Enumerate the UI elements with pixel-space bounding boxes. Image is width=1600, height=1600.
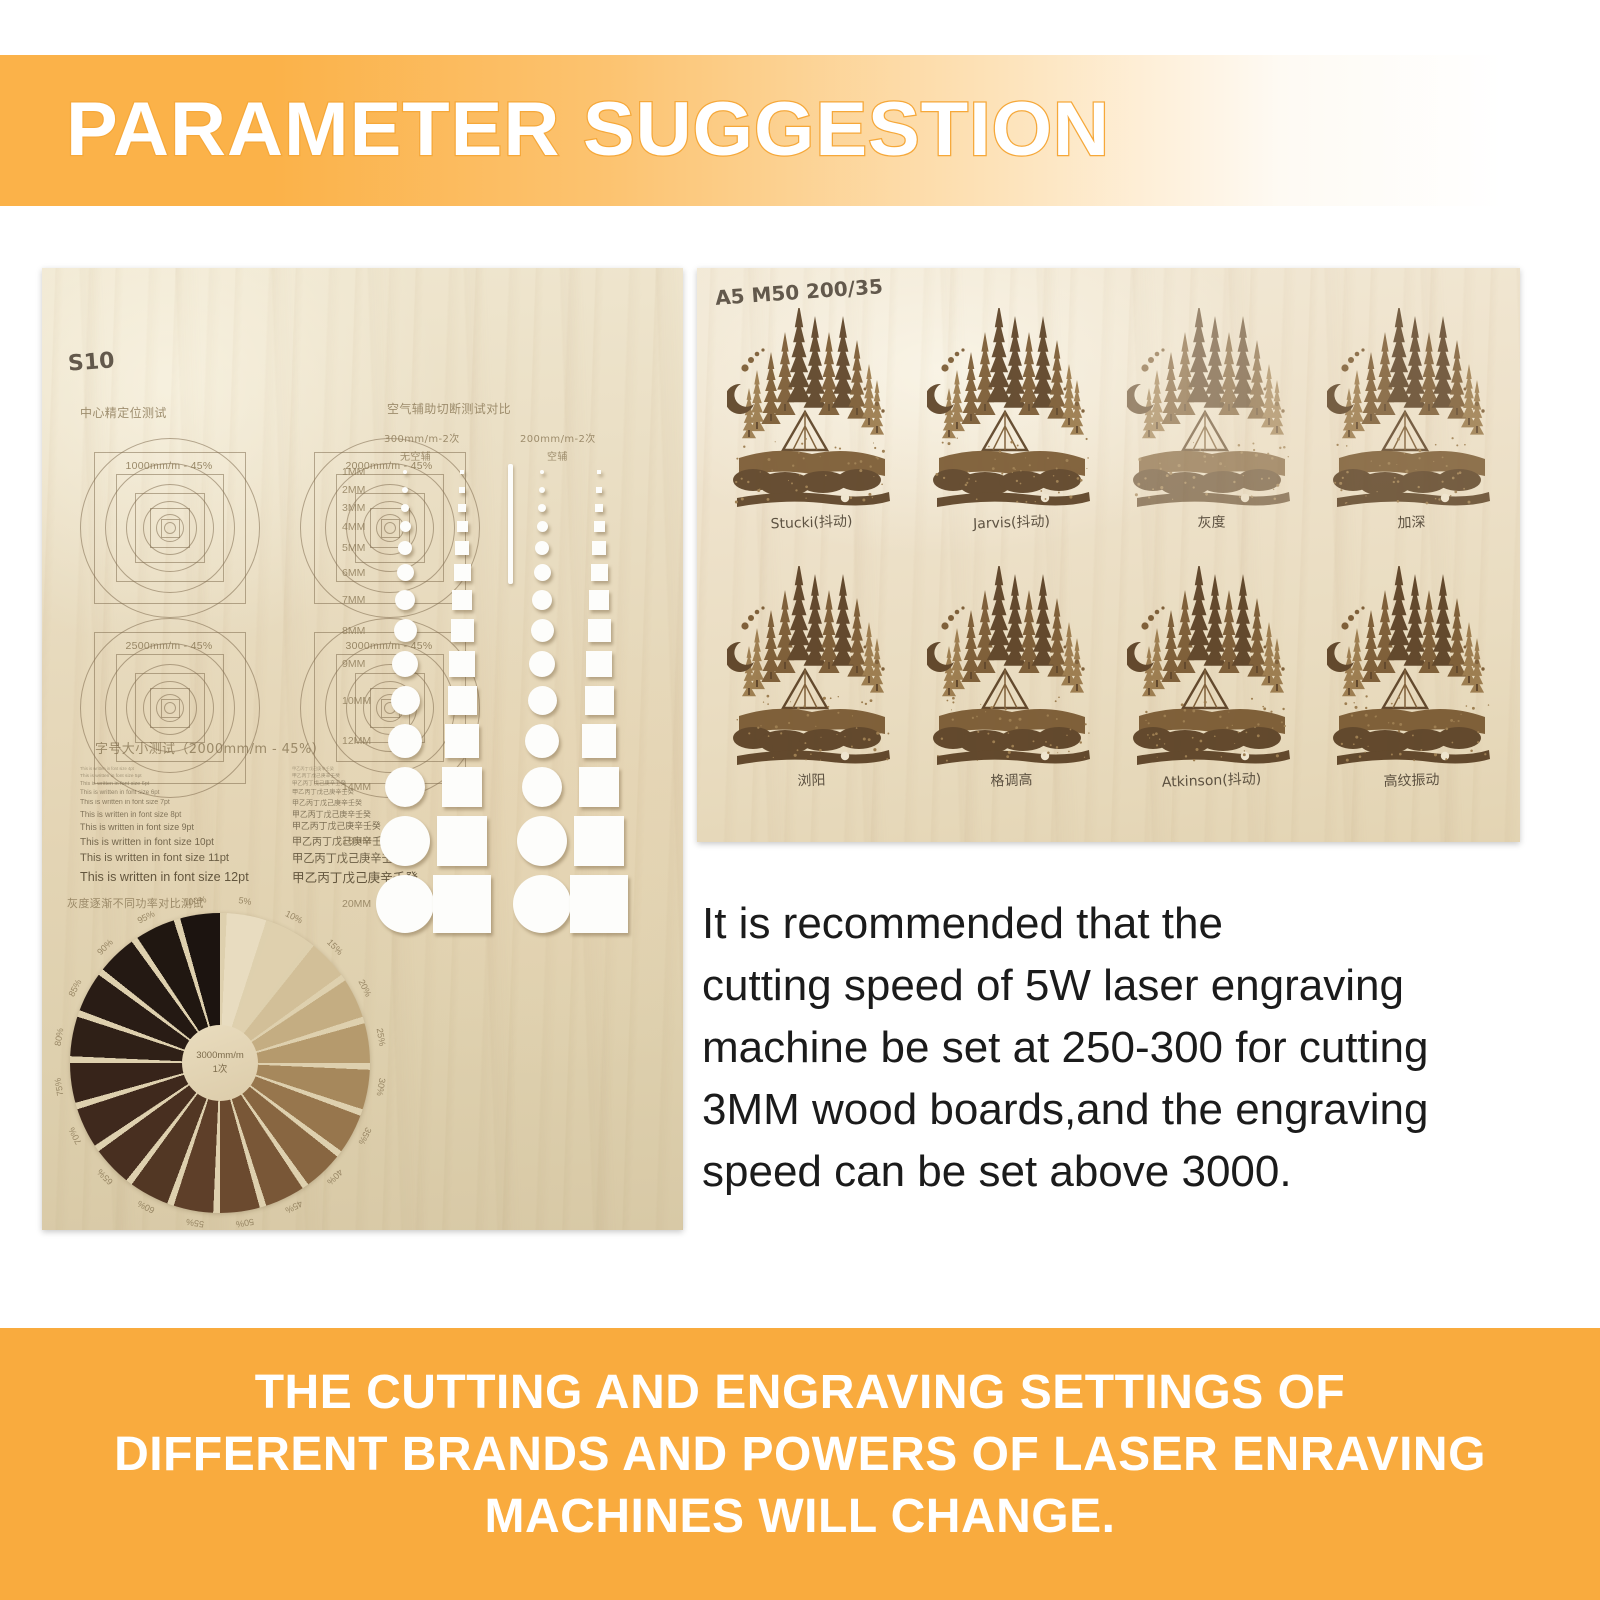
tent-detail: [1193, 412, 1217, 450]
engrave-speckle: [966, 482, 968, 484]
decorative-dot: [1064, 646, 1067, 649]
engrave-speckle: [805, 498, 806, 499]
font-size-sample-en: This is written in font size 8pt: [80, 809, 249, 821]
engrave-speckle: [1160, 468, 1162, 470]
engrave-speckle: [1006, 755, 1009, 758]
test-board-left: S10 中心精定位测试 空气辅助切断测试对比 字号大小测试（2000mm/m -…: [42, 268, 683, 1230]
pine-tree: [1404, 316, 1427, 408]
tree-trunk: [1028, 662, 1030, 669]
engrave-speckle: [1365, 695, 1367, 697]
engrave-speckle: [737, 719, 738, 720]
engrave-speckle: [797, 749, 799, 751]
tree-trunk: [956, 422, 958, 429]
tree-trunk: [1370, 672, 1372, 679]
engrave-speckle: [803, 705, 805, 707]
engrave-speckle: [886, 758, 888, 760]
engrave-speckle: [1152, 488, 1154, 490]
engrave-speckle: [1246, 732, 1248, 734]
pine-tree: [1004, 574, 1027, 666]
decorative-dot: [761, 348, 764, 351]
paragraph-line: speed can be set above 3000.: [702, 1141, 1532, 1203]
engrave-speckle: [1261, 478, 1263, 480]
engrave-speckle: [1069, 495, 1072, 498]
engrave-speckle: [872, 497, 873, 498]
engrave-speckle: [1029, 464, 1031, 466]
engrave-speckle: [1453, 721, 1454, 722]
cut-size-label: 8MM: [342, 625, 365, 637]
cut-divider-strip: [508, 464, 513, 584]
cut-out-square: [586, 651, 612, 677]
engrave-speckle: [1279, 447, 1281, 449]
tree-trunk: [1468, 676, 1470, 683]
engrave-speckle: [799, 474, 801, 476]
decorative-dot: [864, 646, 867, 649]
fallen-log: [937, 492, 1090, 507]
decorative-dot: [1450, 397, 1455, 402]
test-circle: [384, 522, 396, 534]
cut-out-square: [437, 816, 487, 866]
engrave-speckle: [952, 701, 954, 703]
paragraph-line: 3MM wood boards,and the engraving: [702, 1079, 1532, 1141]
foliage-clump: [1037, 727, 1081, 749]
foliage-clump: [1437, 727, 1481, 749]
engrave-speckle: [994, 459, 995, 460]
engrave-speckle: [1360, 738, 1361, 739]
decorative-dot: [741, 364, 748, 371]
engrave-speckle: [1045, 741, 1047, 743]
engraved-artwork: [1327, 308, 1497, 508]
log-knot: [1241, 752, 1249, 760]
tree-trunk: [1442, 396, 1444, 403]
engrave-speckle: [1086, 438, 1088, 440]
decorative-dot: [1355, 610, 1360, 615]
engraved-artwork: [927, 566, 1097, 766]
tree-trunk: [1356, 680, 1358, 687]
tree-trunk: [970, 672, 972, 679]
engrave-speckle: [1274, 498, 1277, 501]
engrave-speckle: [1488, 704, 1489, 705]
test-circle: [164, 702, 176, 714]
decorative-dot: [1057, 650, 1061, 654]
cut-out-square: [454, 564, 471, 581]
engrave-speckle: [1346, 502, 1347, 503]
engrave-speckle: [1375, 716, 1377, 718]
engrave-speckle: [838, 696, 839, 697]
engrave-speckle: [1056, 718, 1058, 720]
engrave-speckle: [836, 734, 837, 735]
cut-out-square: [579, 767, 619, 807]
tree-trunk: [1348, 430, 1350, 437]
engrave-speckle: [1404, 453, 1405, 454]
cut-out-square: [582, 724, 616, 758]
engrave-speckle: [988, 446, 990, 448]
engrave-speckle: [1457, 472, 1459, 474]
engrave-speckle: [1056, 480, 1059, 483]
circle-test-caption: 2000mm/m - 45%: [300, 460, 478, 472]
engrave-speckle: [741, 497, 744, 500]
pine-tree: [1374, 590, 1395, 673]
decorative-dot: [1250, 655, 1255, 660]
cut-out-square: [591, 564, 608, 581]
engrave-speckle: [1047, 457, 1049, 459]
engrave-speckle: [980, 704, 981, 705]
engrave-speckle: [1418, 486, 1420, 488]
tree-trunk: [784, 662, 786, 669]
engrave-speckle: [948, 442, 951, 445]
engrave-speckle: [873, 442, 874, 443]
engrave-speckle: [1438, 498, 1440, 500]
cut-out-circle: [385, 767, 425, 807]
decorative-dot: [1450, 655, 1455, 660]
engrave-speckle: [1148, 496, 1150, 498]
test-circle: [164, 522, 176, 534]
decorative-dot: [941, 622, 948, 629]
tree-trunk: [1214, 396, 1216, 403]
font-size-column-en: This is written in font size 4ptThis is …: [80, 766, 249, 887]
cut-out-circle: [392, 651, 418, 677]
tree-trunk: [1476, 684, 1478, 691]
cut-out-circle: [525, 724, 559, 758]
engrave-speckle: [1200, 740, 1203, 743]
tree-trunk: [1056, 666, 1058, 673]
tree-trunk: [1370, 414, 1372, 421]
engrave-speckle: [805, 485, 808, 488]
engrave-speckle: [968, 478, 970, 480]
cut-out-square: [448, 686, 477, 715]
pine-tree: [1374, 332, 1395, 415]
engrave-speckle: [1053, 475, 1055, 477]
engrave-speckle: [1185, 755, 1187, 757]
engrave-speckle: [965, 484, 968, 487]
engrave-speckle: [805, 759, 806, 760]
tent-detail: [793, 670, 817, 708]
decorative-dot: [857, 650, 861, 654]
pine-tree: [1204, 574, 1227, 666]
engrave-speckle: [760, 725, 761, 726]
engrave-speckle: [1204, 701, 1207, 704]
engrave-speckle: [759, 489, 760, 490]
engraving-sample: 高纹振动: [1315, 566, 1508, 806]
engrave-speckle: [1193, 486, 1195, 488]
engrave-speckle: [767, 498, 770, 501]
engraving-sample-caption: Stucki(抖动): [715, 509, 909, 536]
engrave-speckle: [1050, 744, 1052, 746]
engrave-speckle: [1014, 469, 1016, 471]
engrave-speckle: [1005, 708, 1007, 710]
tree-trunk: [1228, 662, 1230, 669]
decorative-dot: [1281, 667, 1284, 670]
engrave-speckle: [1238, 444, 1241, 447]
cut-out-square: [458, 504, 466, 512]
engrave-speckle: [735, 500, 738, 503]
engrave-speckle: [1346, 471, 1349, 474]
engraving-sample-caption: 浏阳: [715, 767, 909, 794]
engrave-speckle: [881, 484, 883, 486]
engrave-speckle: [1252, 497, 1253, 498]
engrave-speckle: [1420, 749, 1422, 751]
font-size-sample-en: This is written in font size 11pt: [80, 850, 249, 867]
tree-trunk: [798, 648, 800, 655]
tree-trunk: [1056, 408, 1058, 415]
engrave-speckle: [1336, 444, 1338, 446]
engrave-speckle: [1184, 482, 1186, 484]
engrave-speckle: [1224, 466, 1225, 467]
engrave-speckle: [1183, 720, 1185, 722]
cut-size-label: 5MM: [342, 542, 365, 554]
engrave-speckle: [747, 481, 749, 483]
cut-compare-column-header: 200mm/m-2次: [520, 430, 596, 445]
circle-test-caption: 1000mm/m - 45%: [80, 460, 258, 472]
engrave-speckle: [1396, 464, 1397, 465]
engrave-speckle: [1442, 457, 1444, 459]
pine-tree: [1404, 574, 1427, 666]
tree-trunk: [876, 684, 878, 691]
engrave-speckle: [819, 749, 822, 752]
engrave-speckle: [1377, 491, 1378, 492]
decorative-dot: [1275, 402, 1279, 406]
tree-trunk: [1242, 396, 1244, 403]
cut-out-circle: [403, 470, 407, 474]
decorative-dot: [1348, 357, 1354, 363]
tree-trunk: [1414, 654, 1416, 661]
cut-out-square: [459, 487, 465, 493]
engrave-speckle: [790, 701, 791, 702]
cut-size-label: 14MM: [342, 781, 371, 793]
engrave-speckle: [854, 462, 856, 464]
engrave-speckle: [1351, 714, 1353, 716]
foliage-clump: [1237, 727, 1281, 749]
engrave-speckle: [1184, 709, 1187, 712]
engrave-speckle: [775, 441, 776, 442]
engrave-speckle: [1157, 757, 1158, 758]
fallen-log: [737, 492, 890, 507]
engrave-speckle: [1418, 449, 1421, 452]
fallen-log: [937, 750, 1090, 765]
cut-out-square: [449, 651, 475, 677]
log-knot: [1041, 494, 1049, 502]
footer-notice: THE CUTTING AND ENGRAVING SETTINGS OFDIF…: [0, 1362, 1600, 1548]
cut-size-label: 7MM: [342, 594, 365, 606]
tent-detail: [993, 670, 1017, 708]
decorative-dot: [1341, 364, 1348, 371]
tree-trunk: [1276, 426, 1278, 433]
log-knot: [1441, 494, 1449, 502]
engrave-speckle: [1145, 720, 1146, 721]
tree-trunk: [1170, 414, 1172, 421]
engraving-sample-caption: 高纹振动: [1315, 767, 1509, 794]
engrave-speckle: [1010, 441, 1013, 444]
engrave-speckle: [1166, 474, 1169, 477]
tree-trunk: [1014, 654, 1016, 661]
engrave-speckle: [1458, 720, 1460, 722]
tree-trunk: [1184, 662, 1186, 669]
decorative-dot: [1281, 409, 1284, 412]
engrave-speckle: [1399, 753, 1402, 756]
engrave-speckle: [1047, 714, 1049, 716]
engrave-speckle: [1172, 499, 1173, 500]
engrave-speckle: [1196, 748, 1199, 751]
engrave-speckle: [985, 711, 986, 712]
engrave-speckle: [1355, 736, 1358, 739]
pine-tree: [1204, 316, 1227, 408]
cut-out-square: [433, 875, 491, 933]
engrave-speckle: [946, 760, 948, 762]
log-knot: [1241, 494, 1249, 502]
engrave-speckle: [1057, 752, 1058, 753]
engrave-speckle: [1392, 722, 1395, 725]
engrave-speckle: [823, 697, 826, 700]
engrave-speckle: [957, 437, 958, 438]
engrave-speckle: [1178, 464, 1181, 467]
engrave-speckle: [972, 717, 974, 719]
engrave-speckle: [810, 753, 812, 755]
engrave-speckle: [1459, 471, 1462, 474]
cut-out-square: [457, 521, 468, 532]
engrave-speckle: [1393, 481, 1395, 483]
engrave-speckle: [1253, 449, 1255, 451]
footer-line: MACHINES WILL CHANGE.: [0, 1486, 1600, 1548]
decorative-dot: [1148, 615, 1154, 621]
engrave-speckle: [1199, 449, 1201, 451]
engrave-speckle: [768, 735, 770, 737]
engrave-speckle: [1426, 502, 1429, 505]
cut-out-circle: [522, 767, 562, 807]
engrave-speckle: [1470, 750, 1473, 753]
tree-trunk: [1042, 396, 1044, 403]
decorative-dot: [1275, 660, 1279, 664]
engrave-speckle: [868, 738, 871, 741]
decorative-dot: [1161, 606, 1164, 609]
cut-out-circle: [535, 541, 549, 555]
paragraph-line: cutting speed of 5W laser engraving: [702, 955, 1532, 1017]
engrave-speckle: [798, 452, 800, 454]
engrave-speckle: [1460, 714, 1461, 715]
engrave-speckle: [1137, 483, 1140, 486]
cut-out-circle: [400, 521, 411, 532]
engrave-speckle: [1391, 753, 1393, 755]
engrave-speckle: [1068, 751, 1070, 753]
engrave-speckle: [820, 737, 821, 738]
engrave-speckle: [977, 731, 979, 733]
engrave-speckle: [935, 473, 938, 476]
engrave-speckle: [801, 443, 803, 445]
foliage-clump: [1037, 469, 1081, 491]
tree-trunk: [868, 676, 870, 683]
tree-trunk: [798, 390, 800, 397]
engrave-speckle: [839, 448, 841, 450]
engrave-speckle: [1164, 743, 1165, 744]
cut-size-label: 1MM: [342, 466, 365, 478]
engrave-speckle: [1268, 477, 1270, 479]
cut-out-square: [570, 875, 628, 933]
engrave-speckle: [1155, 732, 1158, 735]
engrave-speckle: [844, 736, 845, 737]
engrave-speckle: [1008, 751, 1011, 754]
recommendation-paragraph: It is recommended that thecutting speed …: [702, 893, 1532, 1203]
engrave-speckle: [847, 462, 849, 464]
engrave-speckle: [1454, 491, 1457, 494]
engrave-speckle: [975, 729, 976, 730]
engraving-sample: 灰度: [1115, 308, 1308, 548]
engrave-speckle: [875, 456, 877, 458]
cut-out-square: [588, 619, 611, 642]
cut-out-square: [595, 504, 603, 512]
decorative-dot: [1075, 402, 1079, 406]
tree-trunk: [868, 418, 870, 425]
decorative-dot: [755, 610, 760, 615]
engrave-speckle: [1282, 708, 1284, 710]
engrave-speckle: [1463, 488, 1465, 490]
tree-trunk: [856, 408, 858, 415]
cut-out-circle: [380, 816, 430, 866]
decorative-dot: [875, 660, 879, 664]
cut-size-label: 18MM: [342, 835, 371, 847]
tree-trunk: [842, 396, 844, 403]
engrave-speckle: [937, 755, 939, 757]
engrave-speckle: [1364, 752, 1366, 754]
tree-trunk: [756, 680, 758, 687]
engrave-speckle: [1341, 743, 1343, 745]
pine-tree: [1174, 332, 1195, 415]
engrave-speckle: [1353, 743, 1355, 745]
engrave-speckle: [1163, 715, 1166, 718]
tree-trunk: [1068, 676, 1070, 683]
pine-tree: [1174, 590, 1195, 673]
engrave-speckle: [1397, 480, 1400, 483]
engrave-speckle: [1413, 759, 1415, 761]
engrave-speckle: [1193, 759, 1195, 761]
engrave-speckle: [1484, 753, 1486, 755]
engrave-speckle: [952, 697, 955, 700]
decorative-dot: [1481, 409, 1484, 412]
tree-trunk: [784, 404, 786, 411]
decorative-dot: [1081, 667, 1084, 670]
engrave-speckle: [748, 732, 750, 734]
tree-trunk: [1228, 404, 1230, 411]
tree-trunk: [984, 662, 986, 669]
decorative-dot: [875, 402, 879, 406]
engrave-speckle: [760, 471, 761, 472]
engrave-speckle: [1056, 468, 1058, 470]
decorative-dot: [1475, 402, 1479, 406]
engrave-speckle: [1271, 457, 1274, 460]
engrave-speckle: [1367, 746, 1368, 747]
engrave-speckle: [1047, 752, 1050, 755]
pine-tree: [974, 332, 995, 415]
engrave-speckle: [850, 497, 853, 500]
engrave-speckle: [873, 476, 874, 477]
engrave-speckle: [1228, 712, 1229, 713]
engrave-speckle: [1017, 445, 1019, 447]
cut-out-circle: [529, 651, 555, 677]
foliage-clump: [1237, 469, 1281, 491]
engrave-speckle: [1159, 463, 1161, 465]
cut-out-square: [594, 521, 605, 532]
engrave-speckle: [1016, 480, 1018, 482]
engrave-speckle: [952, 718, 954, 720]
cut-size-label: 6MM: [342, 567, 365, 579]
engrave-speckle: [1084, 757, 1085, 758]
engrave-speckle: [1234, 743, 1235, 744]
engrave-speckle: [820, 760, 821, 761]
tree-trunk: [1414, 396, 1416, 403]
foliage-clump: [837, 727, 881, 749]
engrave-speckle: [861, 701, 863, 703]
engrave-speckle: [1156, 744, 1158, 746]
tree-trunk: [1398, 390, 1400, 397]
font-size-sample-en: This is written in font size 9pt: [80, 821, 249, 835]
engrave-speckle: [1450, 495, 1451, 496]
